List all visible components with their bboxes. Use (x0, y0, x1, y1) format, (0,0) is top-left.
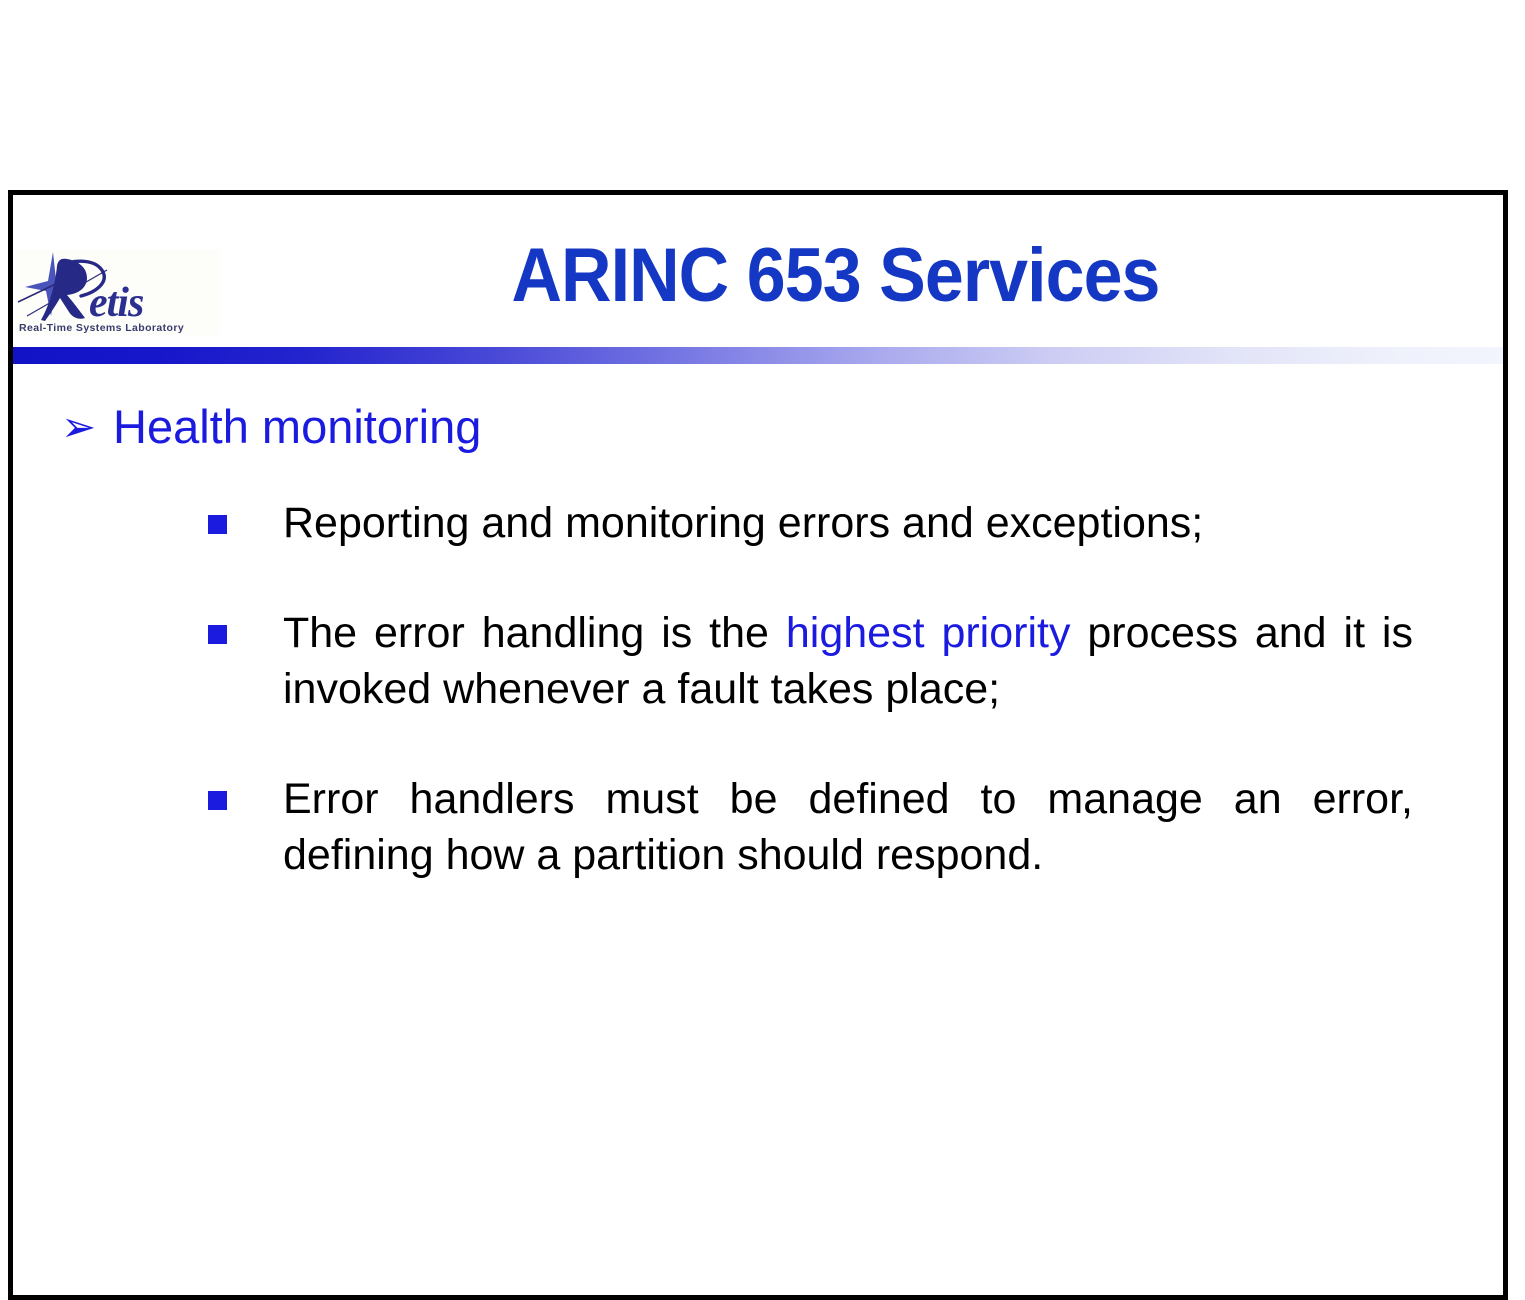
square-bullet-icon (208, 771, 283, 810)
slide-header: etis Real-Time Systems Laboratory Retis … (13, 195, 1503, 347)
retis-logo-graphic: etis Real-Time Systems Laboratory (15, 250, 220, 335)
slide-frame: etis Real-Time Systems Laboratory Retis … (8, 190, 1508, 1300)
text-segment: Error handlers must be defined to manage… (283, 775, 1413, 879)
bullet-level1-health-monitoring: ➢ Health monitoring (61, 397, 1503, 457)
svg-text:etis: etis (89, 280, 144, 326)
text-segment: The error handling is the (283, 609, 786, 657)
bullet-level2-reporting: Reporting and monitoring errors and exce… (208, 495, 1413, 551)
bullet-level1-label: Health monitoring (113, 397, 481, 457)
square-bullet-icon (208, 605, 283, 644)
header-divider-bar (13, 347, 1503, 364)
retis-logo: etis Real-Time Systems Laboratory Retis … (15, 250, 220, 335)
highlighted-text-segment: highest priority (786, 609, 1071, 657)
text-segment: Reporting and monitoring errors and exce… (283, 499, 1203, 547)
slide-title: ARINC 653 Services (277, 233, 1395, 319)
bullet-level2-text: Reporting and monitoring errors and exce… (283, 495, 1413, 551)
square-bullet-icon (208, 495, 283, 534)
bullet-level2-text: The error handling is the highest priori… (283, 605, 1413, 717)
bullet-level2-error-handling: The error handling is the highest priori… (208, 605, 1413, 717)
bullet-level2-text: Error handlers must be defined to manage… (283, 771, 1413, 883)
bullet-level2-error-handlers: Error handlers must be defined to manage… (208, 771, 1413, 883)
svg-text:Real-Time Systems Laboratory: Real-Time Systems Laboratory (19, 322, 184, 334)
slide-body: ➢ Health monitoring Reporting and monito… (13, 364, 1503, 1295)
arrow-bullet-icon: ➢ (61, 397, 113, 457)
